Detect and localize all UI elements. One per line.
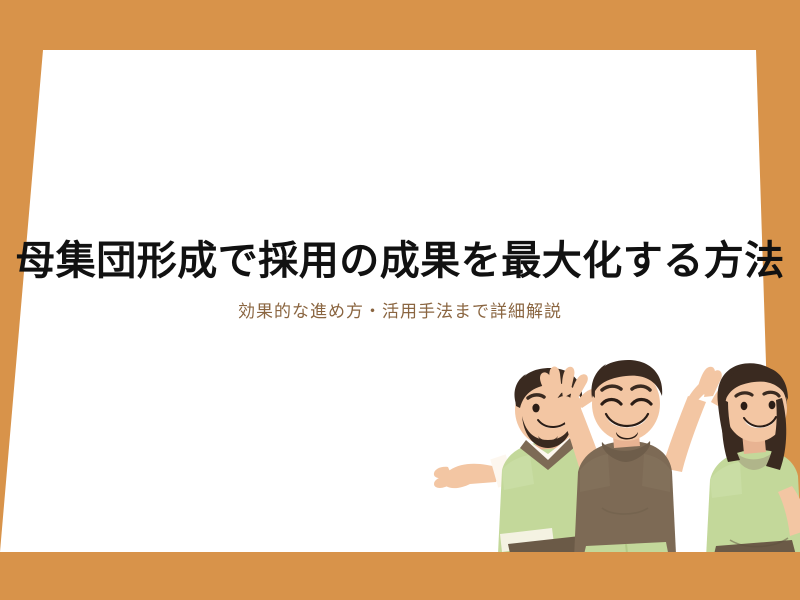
bottom-orange-band [0, 552, 800, 600]
page-title: 母集団形成で採用の成果を最大化する方法 [0, 238, 800, 285]
person-left-bearded [434, 368, 590, 558]
eyecatch-slide: 母集団形成で採用の成果を最大化する方法 効果的な進め方・活用手法まで詳細解説 [0, 0, 800, 600]
heading-block: 母集団形成で採用の成果を最大化する方法 効果的な進め方・活用手法まで詳細解説 [0, 238, 800, 323]
person-right-long-hair [706, 363, 800, 558]
three-cheering-people-illustration [430, 358, 800, 558]
page-subtitle: 効果的な進め方・活用手法まで詳細解説 [0, 301, 800, 323]
